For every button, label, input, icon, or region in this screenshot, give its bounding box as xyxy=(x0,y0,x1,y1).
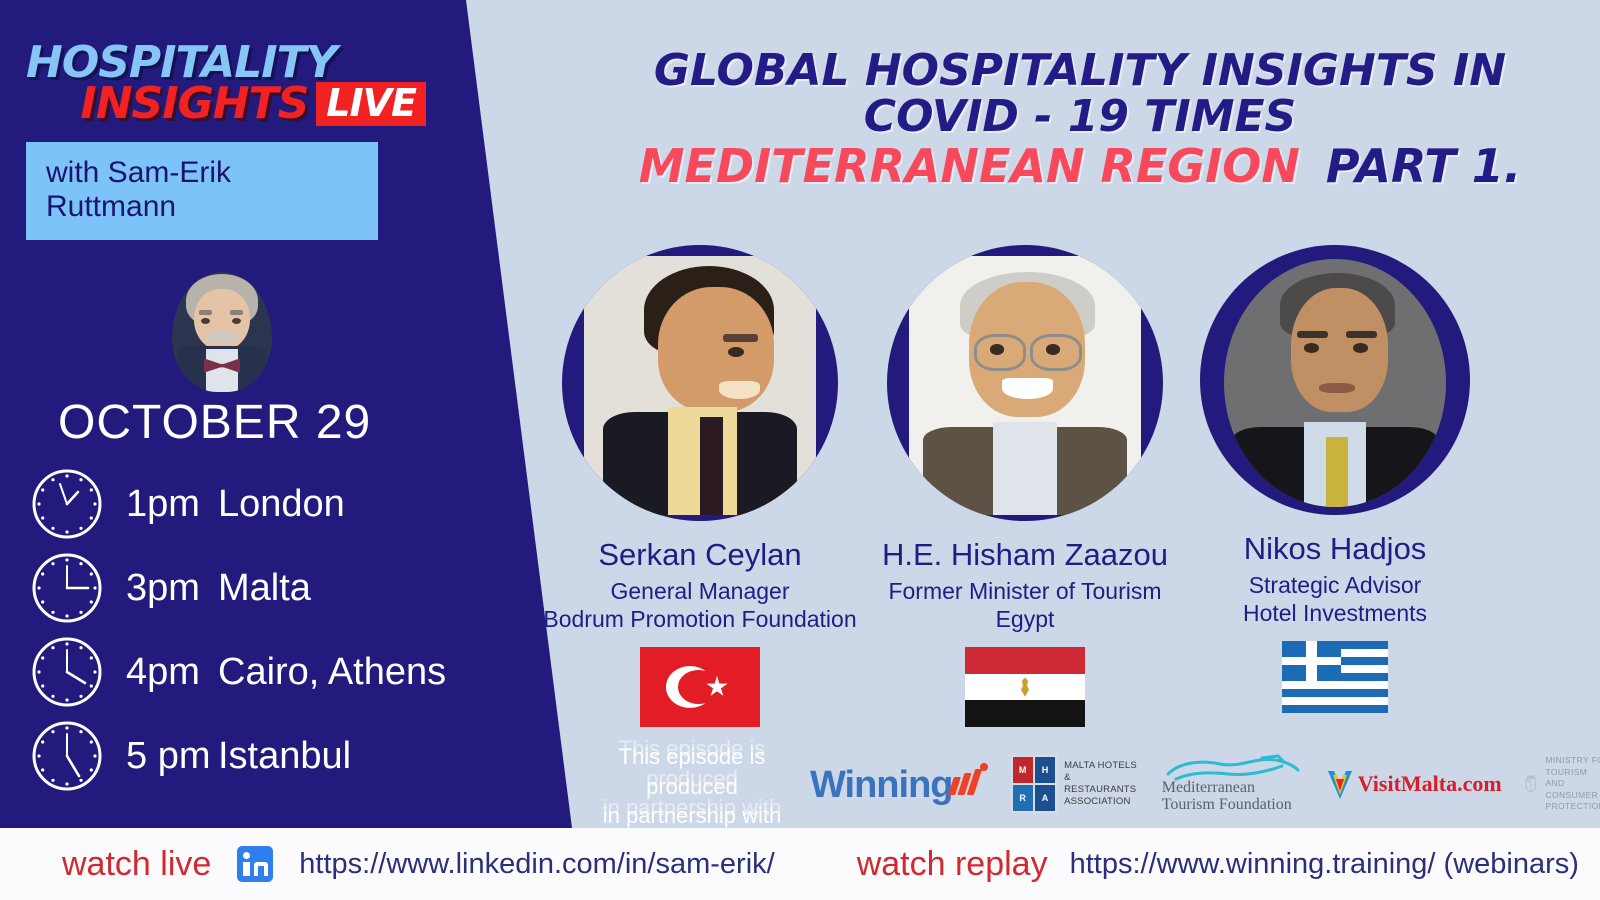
watch-replay-label: watch replay xyxy=(857,845,1048,884)
time-city: Cairo, Athens xyxy=(218,651,446,693)
replay-url-link[interactable]: https://www.winning.training/ (webinars) xyxy=(1070,848,1579,881)
headline-region: MEDITERRANEAN REGION xyxy=(639,142,1300,190)
speaker-role-line-1: Former Minister of Tourism xyxy=(865,577,1185,605)
watch-live-label: watch live xyxy=(62,845,211,884)
time-value: 4pm xyxy=(126,651,218,694)
linkedin-icon[interactable] xyxy=(237,846,273,882)
speaker-role-line-1: Strategic Advisor xyxy=(1175,571,1495,599)
mhra-letter: A xyxy=(1035,785,1055,811)
headline-line-1: GLOBAL HOSPITALITY INSIGHTS IN xyxy=(580,48,1580,94)
speaker-role: Strategic Advisor Hotel Investments xyxy=(1175,571,1495,627)
partnership-line-1: This episode is produced xyxy=(572,742,812,801)
mhra-letter: M xyxy=(1013,757,1033,783)
headline-part: PART 1. xyxy=(1326,142,1521,190)
egypt-flag xyxy=(965,647,1085,727)
speaker-role-line-1: General Manager xyxy=(540,577,860,605)
mhra-line-1: MALTA HOTELS xyxy=(1064,760,1140,772)
time-value: 5 pm xyxy=(126,735,218,778)
logo-live-badge: LIVE xyxy=(316,82,426,126)
mediterranean-tourism-foundation-logo: Mediterranean Tourism Foundation xyxy=(1162,754,1304,814)
speaker-avatar xyxy=(887,245,1163,521)
mtf-logo-text: Mediterranean Tourism Foundation xyxy=(1162,780,1292,814)
page-title: GLOBAL HOSPITALITY INSIGHTS IN COVID - 1… xyxy=(580,48,1580,191)
time-row: 1pmLondon xyxy=(30,462,446,546)
mtf-line-2: Tourism Foundation xyxy=(1162,797,1292,814)
watch-live-group: watch live https://www.linkedin.com/in/s… xyxy=(62,845,775,884)
partnership-text: This episode is produced in partnership … xyxy=(572,742,812,831)
speaker-avatar xyxy=(1200,245,1470,515)
logo-second-line: INSIGHTS LIVE xyxy=(26,82,426,126)
linkedin-url-link[interactable]: https://www.linkedin.com/in/sam-erik/ xyxy=(299,848,774,881)
webinar-poster: HOSPITALITY INSIGHTS LIVE with Sam-Erik … xyxy=(0,0,1600,900)
speaker-role: Former Minister of Tourism Egypt xyxy=(865,577,1185,633)
time-row: 5 pmIstanbul xyxy=(30,714,446,798)
mhra-logo: M H R A MALTA HOTELS & RESTAURANTS ASSOC… xyxy=(1011,755,1140,813)
clock-icon xyxy=(30,467,104,541)
time-city: Malta xyxy=(218,567,311,609)
speaker-role: General Manager Bodrum Promotion Foundat… xyxy=(540,577,860,633)
speaker-card: Serkan Ceylan General Manager Bodrum Pro… xyxy=(540,245,860,727)
clock-icon xyxy=(30,719,104,793)
time-label: 5 pmIstanbul xyxy=(126,735,351,778)
mhra-letter: R xyxy=(1013,785,1033,811)
logo-insights-text: INSIGHTS xyxy=(80,83,308,125)
speaker-card: H.E. Hisham Zaazou Former Minister of To… xyxy=(865,245,1185,727)
visitmalta-mark-icon xyxy=(1326,769,1354,799)
visitmalta-logo: VisitMalta.com xyxy=(1326,769,1502,799)
time-city: London xyxy=(218,483,345,525)
mhra-line-2: & RESTAURANTS xyxy=(1064,772,1140,796)
time-label: 4pmCairo, Athens xyxy=(126,651,446,694)
clock-icon xyxy=(30,635,104,709)
speaker-role-line-2: Egypt xyxy=(865,605,1185,633)
time-city: Istanbul xyxy=(218,735,351,777)
speaker-name: Serkan Ceylan xyxy=(540,537,860,573)
headline-line-2: COVID - 19 TIMES xyxy=(580,94,1580,140)
speaker-list: Serkan Ceylan General Manager Bodrum Pro… xyxy=(520,245,1520,765)
mhra-mark-icon: M H R A xyxy=(1011,755,1058,813)
host-name-bar: with Sam-Erik Ruttmann xyxy=(26,142,378,240)
headline-line-3: MEDITERRANEAN REGION PART 1. xyxy=(580,142,1580,190)
time-value: 1pm xyxy=(126,483,218,526)
speaker-role-line-2: Hotel Investments xyxy=(1175,599,1495,627)
visitmalta-logo-text: VisitMalta.com xyxy=(1358,771,1502,797)
malta-crest-icon xyxy=(1524,767,1538,801)
time-row: 4pmCairo, Athens xyxy=(30,630,446,714)
footer-bar: watch live https://www.linkedin.com/in/s… xyxy=(0,828,1600,900)
partnership-line-2: in partnership with xyxy=(572,801,812,831)
ministry-line-2: AND CONSUMER PROTECTION xyxy=(1545,778,1600,812)
time-value: 3pm xyxy=(126,567,218,610)
ministry-logo: MINISTRY FOR TOURISM AND CONSUMER PROTEC… xyxy=(1524,755,1600,812)
speaker-card: Nikos Hadjos Strategic Advisor Hotel Inv… xyxy=(1175,245,1495,713)
speaker-role-line-2: Bodrum Promotion Foundation xyxy=(540,605,860,633)
speaker-name: H.E. Hisham Zaazou xyxy=(865,537,1185,573)
brand-logo: HOSPITALITY INSIGHTS LIVE with Sam-Erik … xyxy=(26,42,426,240)
ministry-line-1: MINISTRY FOR TOURISM xyxy=(1545,755,1600,778)
winning-logo-text: Winning xyxy=(810,764,953,807)
time-label: 3pmMalta xyxy=(126,567,311,610)
speaker-avatar xyxy=(562,245,838,521)
clock-icon xyxy=(30,551,104,625)
watch-replay-group: watch replay https://www.winning.trainin… xyxy=(857,845,1579,884)
host-avatar xyxy=(172,272,272,392)
time-row: 3pmMalta xyxy=(30,546,446,630)
winning-mark-icon xyxy=(949,761,989,795)
ministry-logo-text: MINISTRY FOR TOURISM AND CONSUMER PROTEC… xyxy=(1545,755,1600,812)
mtf-line-1: Mediterranean xyxy=(1162,780,1292,797)
mhra-letter: H xyxy=(1035,757,1055,783)
event-date: OCTOBER 29 xyxy=(58,395,371,450)
mhra-line-3: ASSOCIATION xyxy=(1064,796,1140,808)
time-label: 1pmLondon xyxy=(126,483,345,526)
turkey-flag xyxy=(640,647,760,727)
greece-flag xyxy=(1282,641,1388,713)
timezone-list: 1pmLondon xyxy=(30,462,446,798)
speaker-name: Nikos Hadjos xyxy=(1175,531,1495,567)
winning-logo: Winning xyxy=(810,761,989,807)
mhra-logo-text: MALTA HOTELS & RESTAURANTS ASSOCIATION xyxy=(1064,760,1140,809)
partner-logo-row: Winning M H R A MALTA HOTELS & RESTAURAN… xyxy=(810,744,1600,824)
